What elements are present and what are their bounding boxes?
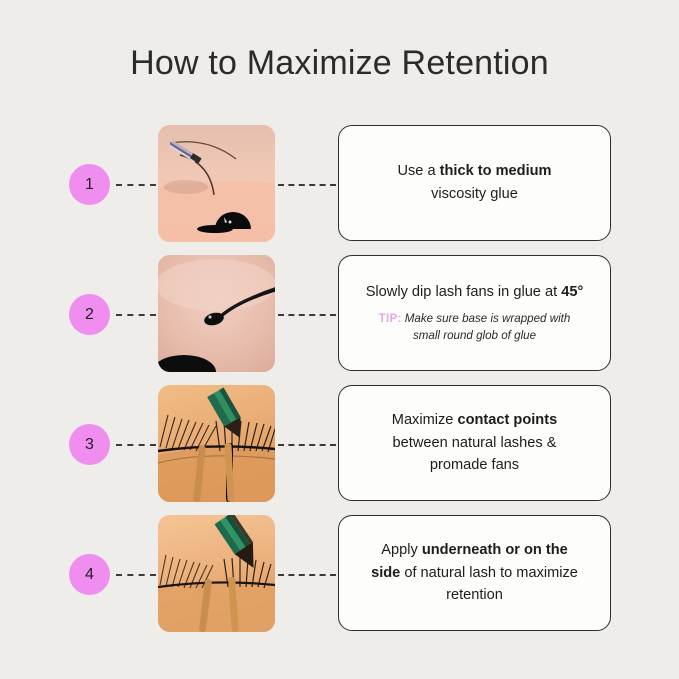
dashed-connector-badge-to-photo <box>116 574 156 576</box>
step-row: 1 <box>0 125 679 243</box>
steps-list: 1 <box>0 125 679 645</box>
step-text: Apply underneath or on theside of natura… <box>371 539 578 607</box>
step-photo-1 <box>158 125 275 242</box>
step-text-card: Slowly dip lash fans in glue at 45° TIP:… <box>338 255 611 371</box>
step-text-card: Apply underneath or on theside of natura… <box>338 515 611 631</box>
tip-text: Make sure base is wrapped withsmall roun… <box>405 312 571 342</box>
step-photo-4 <box>158 515 275 632</box>
page-title: How to Maximize Retention <box>0 44 679 83</box>
step-tip: TIP:Make sure base is wrapped withsmall … <box>379 311 571 345</box>
step-row: 4 <box>0 515 679 633</box>
dashed-connector-badge-to-photo <box>116 444 156 446</box>
step-text: Maximize contact pointsbetween natural l… <box>392 409 557 477</box>
infographic-canvas: How to Maximize Retention 1 <box>0 0 679 679</box>
step-row: 2 <box>0 255 679 373</box>
step-row: 3 <box>0 385 679 503</box>
step-text: Slowly dip lash fans in glue at 45° <box>366 281 584 304</box>
step-number-badge: 3 <box>69 424 110 465</box>
step-photo-2 <box>158 255 275 372</box>
step-photo-3 <box>158 385 275 502</box>
tip-label: TIP: <box>379 312 402 325</box>
dashed-connector-badge-to-photo <box>116 314 156 316</box>
dashed-connector-photo-to-card <box>278 444 336 446</box>
step-text: Use a thick to mediumviscosity glue <box>397 160 551 205</box>
dashed-connector-badge-to-photo <box>116 184 156 186</box>
step-text-card: Maximize contact pointsbetween natural l… <box>338 385 611 501</box>
step-number-badge: 4 <box>69 554 110 595</box>
dashed-connector-photo-to-card <box>278 574 336 576</box>
step-number-badge: 1 <box>69 164 110 205</box>
dashed-connector-photo-to-card <box>278 314 336 316</box>
step-text-card: Use a thick to mediumviscosity glue <box>338 125 611 241</box>
dashed-connector-photo-to-card <box>278 184 336 186</box>
step-number-badge: 2 <box>69 294 110 335</box>
